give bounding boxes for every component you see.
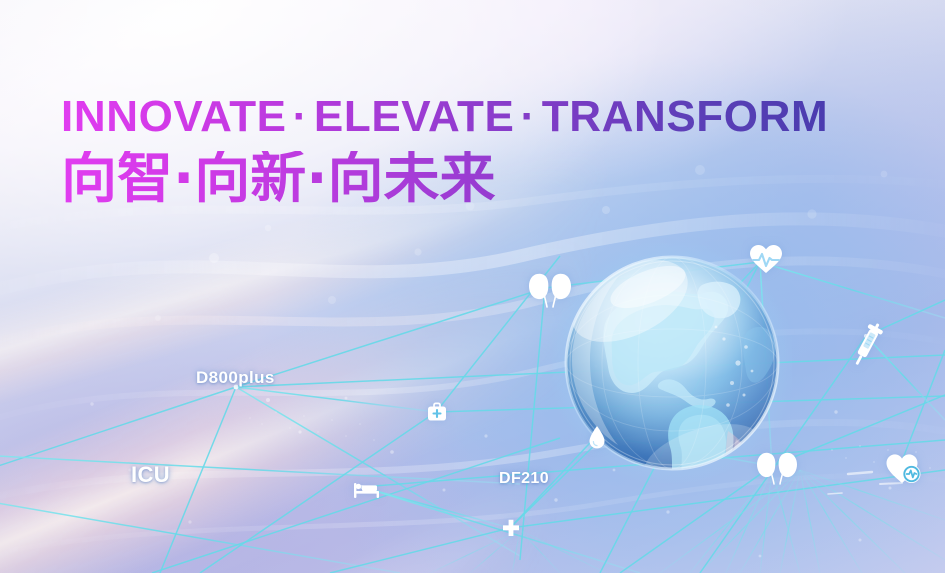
- headline-separator-1: ·: [287, 92, 314, 141]
- headline-chinese: 向智·向新·向未来: [61, 151, 828, 207]
- node-label-df210: DF210: [499, 470, 549, 488]
- medical-bag-icon: [427, 402, 447, 422]
- heart-monitor-icon: [885, 452, 923, 486]
- headline-word-transform: TRANSFORM: [542, 92, 828, 141]
- headline-separator-2: ·: [514, 92, 541, 141]
- headline-block: INNOVATE·ELEVATE·TRANSFORM 向智·向新·向未来: [61, 95, 828, 207]
- water-drop-icon: [588, 425, 606, 449]
- heart-pulse-icon: [748, 243, 784, 275]
- node-label-icu: ICU: [131, 462, 170, 488]
- node-label-d800plus: D800plus: [196, 368, 275, 388]
- headline-word-innovate: INNOVATE: [61, 92, 287, 141]
- kidneys-icon: [527, 271, 573, 311]
- marketing-banner: D800plus ICU DF210 INNOVATE·ELEVATE·TRAN…: [0, 0, 945, 573]
- hospital-bed-icon: [353, 479, 381, 499]
- headline-word-elevate: ELEVATE: [314, 92, 515, 141]
- syringe-icon: [851, 321, 883, 369]
- kidneys-icon: [755, 450, 799, 488]
- headline-english: INNOVATE·ELEVATE·TRANSFORM: [61, 95, 828, 139]
- medical-cross-icon: [502, 519, 520, 537]
